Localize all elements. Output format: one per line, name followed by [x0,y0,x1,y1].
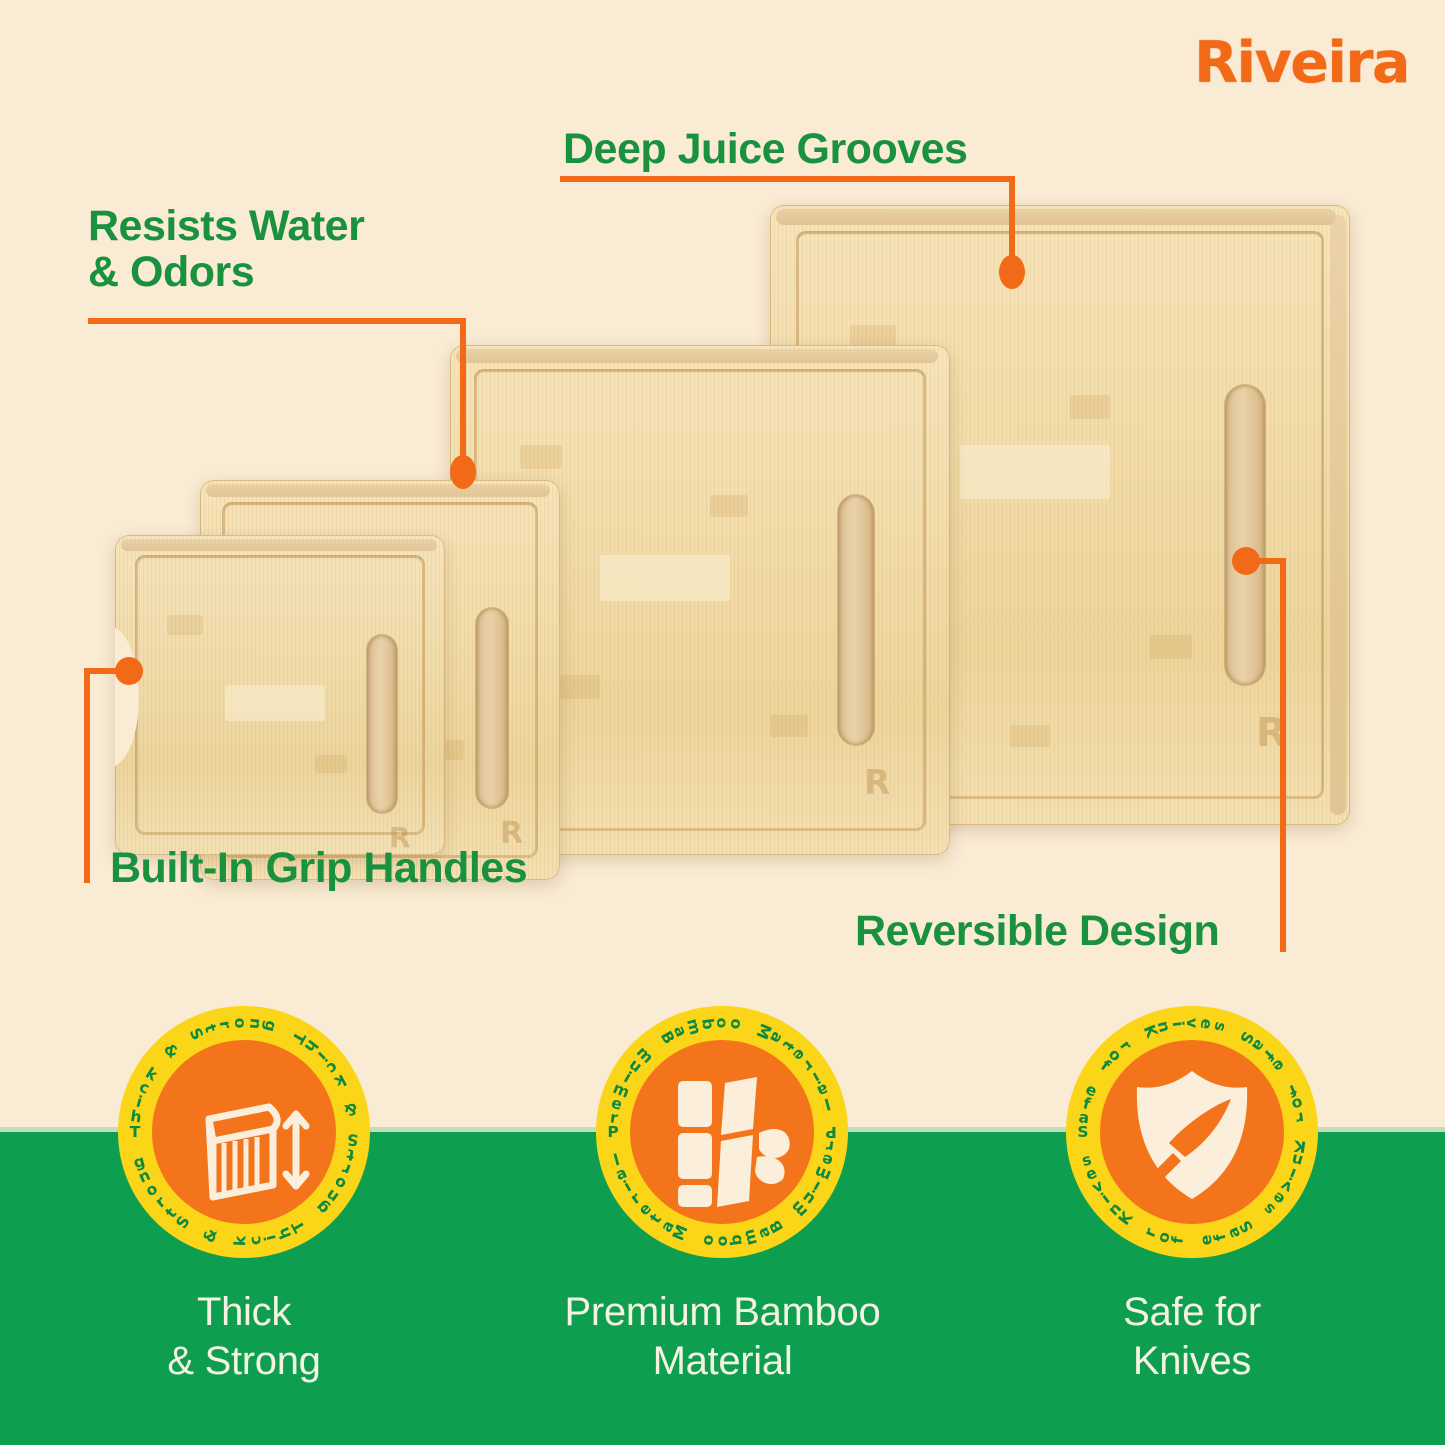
callout-dot-built-in-grip-handles [115,657,143,685]
callout-line-reversible-v [1280,558,1286,952]
badge-caption-premium-bamboo-material: Premium Bamboo Material [500,1288,945,1386]
callout-label-deep-juice-grooves: Deep Juice Grooves [563,126,967,172]
badge-caption-thick-and-strong: Thick & Strong [74,1288,414,1386]
grip-handle [476,608,508,808]
badge-premium-bamboo-material: Premium Bamboo Material Premium Bamboo M… [596,1006,848,1258]
shield-knife-icon [1100,1040,1284,1224]
badge-caption-safe-for-knives: Safe for Knives [1022,1288,1362,1386]
grip-handle [1225,385,1265,685]
callout-line-grip-handles-v [84,668,90,883]
callout-line-resists-water-v [460,318,466,466]
cutting-board-small: R [115,535,445,855]
brand-logo: Riveira [1194,30,1409,96]
callout-label-resists-water-odors: Resists Water & Odors [88,203,364,296]
board-thickness-icon [152,1040,336,1224]
callout-dot-resists-water-odors [450,455,476,489]
grip-handle [367,635,397,813]
callout-line-deep-juice-grooves-h [560,176,1015,182]
badge-safe-for-knives: Safe for Knives Safe for Knives Safe for… [1066,1006,1318,1258]
board-engraving-r: R [864,763,890,803]
callout-label-reversible-design: Reversible Design [855,908,1219,954]
bamboo-stalk-icon [630,1040,814,1224]
grip-handle [838,495,874,745]
infographic-canvas: Riveira R [0,0,1445,1445]
badge-thick-and-strong: Thick & Strong Thick & Strong Thick & St… [118,1006,370,1258]
callout-line-deep-juice-grooves-v [1009,176,1015,262]
callout-line-resists-water-h [88,318,466,324]
callout-label-built-in-grip-handles: Built-In Grip Handles [110,845,527,891]
callout-dot-deep-juice-grooves [999,255,1025,289]
